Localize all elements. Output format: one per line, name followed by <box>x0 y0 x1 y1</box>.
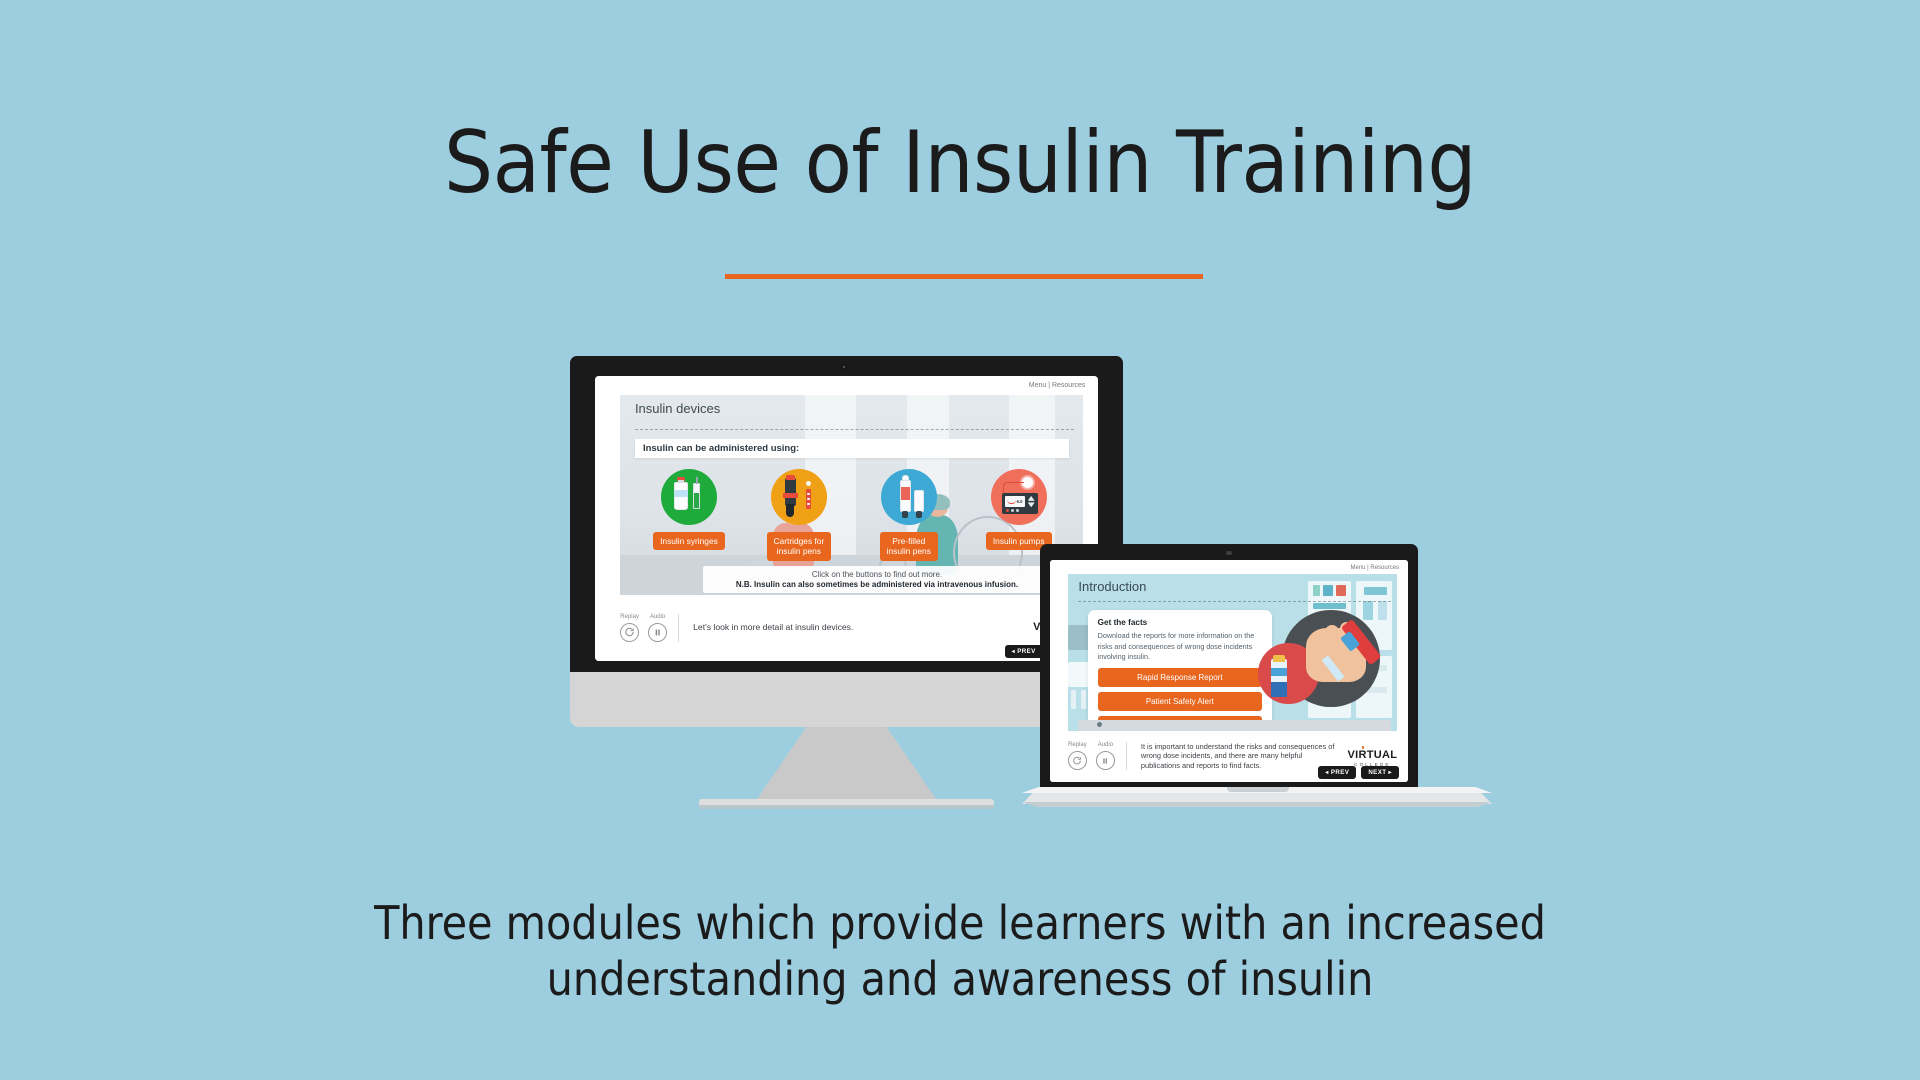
slide-heading: Insulin devices <box>635 401 720 416</box>
course-stage: Insulin devices Insulin can be administe… <box>620 395 1083 596</box>
player-controls: Replay Audio <box>620 614 679 642</box>
laptop-base-notch <box>1227 787 1289 792</box>
replay-icon[interactable] <box>620 623 639 642</box>
page-subtitle: Three modules which provide learners wit… <box>210 895 1710 1007</box>
player-nav-buttons: ◂ PREV NEXT ▸ <box>1318 766 1399 779</box>
menu-resources-link[interactable]: Menu | Resources <box>1029 382 1086 389</box>
course-topbar[interactable]: Menu | Resources <box>1350 560 1408 576</box>
audio-label: Audio <box>1098 742 1113 748</box>
patient-safety-alert-button[interactable]: Patient Safety Alert <box>1098 692 1262 711</box>
audio-pause-icon[interactable] <box>648 623 667 642</box>
replay-icon[interactable] <box>1068 751 1087 770</box>
replay-label: Replay <box>1068 742 1087 748</box>
replay-label: Replay <box>620 614 639 620</box>
laptop-bezel: Menu | Resources <box>1040 544 1418 789</box>
card-title: Get the facts <box>1098 618 1262 627</box>
hand-holding-insulin-pen-illustration <box>1256 606 1388 709</box>
player-controls: Replay Audio <box>1068 742 1127 770</box>
laptop-webcam-icon <box>1226 551 1232 555</box>
prev-chevron-icon: ◂ <box>1325 769 1329 776</box>
prev-button[interactable]: ◂ PREV <box>1318 766 1356 779</box>
subtitle-line-2: understanding and awareness of insulin <box>210 951 1710 1007</box>
card-body: Download the reports for more informatio… <box>1098 631 1262 662</box>
laptop-screen: Menu | Resources <box>1050 560 1408 782</box>
monitor-stand-shadow <box>699 805 994 809</box>
logo-main-text: VIRTUAL <box>1348 749 1398 761</box>
slide-divider <box>1078 601 1390 602</box>
replay-control[interactable]: Replay <box>1068 742 1087 770</box>
slide-scrollbar[interactable] <box>1078 720 1391 731</box>
player-caption: Let's look in more detail at insulin dev… <box>679 622 1025 634</box>
laptop-base-shadow <box>1022 802 1492 807</box>
slide-note: Click on the buttons to find out more. N… <box>703 566 1050 593</box>
prev-chevron-icon: ◂ <box>1012 648 1016 655</box>
replay-control[interactable]: Replay <box>620 614 639 642</box>
device-label[interactable]: Cartridges for insulin pens <box>767 532 832 561</box>
audio-pause-icon[interactable] <box>1096 751 1115 770</box>
subtitle-line-1: Three modules which provide learners wit… <box>210 895 1710 951</box>
slide-banner: Insulin can be administered using: <box>635 439 1069 458</box>
course-topbar[interactable]: Menu | Resources <box>1029 376 1098 396</box>
next-chevron-icon: ▸ <box>1389 769 1393 776</box>
vial-cap <box>1273 655 1285 661</box>
note-line-2: N.B. Insulin can also sometimes be admin… <box>709 580 1044 589</box>
get-the-facts-card: Get the facts Download the reports for m… <box>1088 610 1272 731</box>
slide-divider <box>635 429 1074 430</box>
next-button[interactable]: NEXT ▸ <box>1361 766 1399 779</box>
virtual-college-logo: VIRTUAL COLLEGE <box>1340 746 1398 767</box>
course-slide-introduction: Menu | Resources <box>1050 560 1408 782</box>
prefilled-pen-icon <box>881 469 937 525</box>
rapid-response-report-button[interactable]: Rapid Response Report <box>1098 668 1262 687</box>
audio-control[interactable]: Audio <box>1096 742 1115 770</box>
webcam-icon <box>841 364 847 370</box>
menu-resources-link[interactable]: Menu | Resources <box>1350 565 1399 571</box>
monitor-stand-neck <box>755 727 938 802</box>
player-caption: It is important to understand the risks … <box>1127 742 1340 772</box>
audio-control[interactable]: Audio <box>648 614 667 642</box>
insulin-pen-cartridge-icon <box>771 469 827 525</box>
device-label[interactable]: Pre-filled insulin pens <box>880 532 938 561</box>
presentation-slide: Safe Use of Insulin Training Menu | Reso… <box>0 0 1920 1080</box>
course-stage: Introduction Get the facts Download the … <box>1068 574 1397 731</box>
laptop-mockup: Menu | Resources <box>1022 544 1492 809</box>
insulin-pump-icon: 6.0 <box>991 469 1047 525</box>
vial-band <box>1271 668 1287 676</box>
vial-liquid <box>1271 682 1287 696</box>
scroll-handle[interactable] <box>1097 722 1102 727</box>
next-label: NEXT <box>1368 769 1386 776</box>
slide-heading: Introduction <box>1078 579 1146 594</box>
vial-and-syringe-icon <box>661 469 717 525</box>
note-line-1: Click on the buttons to find out more. <box>709 570 1044 579</box>
prev-label: PREV <box>1331 769 1349 776</box>
course-player-bar: Replay Audio <box>1050 731 1408 782</box>
device-label[interactable]: Insulin syringes <box>653 532 725 551</box>
audio-label: Audio <box>650 614 665 620</box>
